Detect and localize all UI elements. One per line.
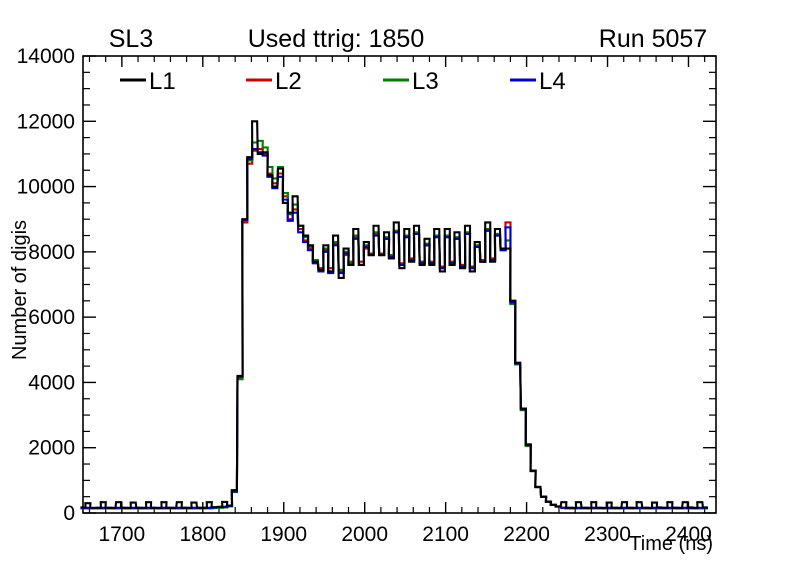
y-tick-label: 12000 bbox=[17, 110, 75, 133]
legend-entry-l1[interactable]: L1 bbox=[120, 68, 176, 95]
plot-canvas: SL3 Used ttrig: 1850 Run 5057 Number of … bbox=[0, 0, 796, 572]
x-tick-label: 2400 bbox=[665, 523, 712, 546]
x-tick-label: 1700 bbox=[98, 523, 145, 546]
header-left-label: SL3 bbox=[109, 25, 153, 53]
header-center-label: Used ttrig: 1850 bbox=[248, 25, 425, 53]
y-tick-label: 14000 bbox=[17, 45, 75, 68]
plot-frame bbox=[83, 56, 716, 513]
x-tick-label: 1900 bbox=[260, 523, 307, 546]
y-tick-label: 4000 bbox=[28, 371, 75, 394]
legend: L1L2L3L4 bbox=[120, 68, 566, 95]
legend-label: L4 bbox=[539, 68, 566, 95]
series-line-l1 bbox=[80, 121, 708, 508]
x-tick-label: 2300 bbox=[584, 523, 631, 546]
x-tick-label: 2100 bbox=[422, 523, 469, 546]
legend-label: L2 bbox=[275, 68, 302, 95]
x-tick-labels: 17001800190020002100220023002400 bbox=[98, 523, 711, 546]
series-line-l3 bbox=[80, 141, 708, 509]
x-tick-label: 1800 bbox=[179, 523, 226, 546]
root-svg: SL3 Used ttrig: 1850 Run 5057 Number of … bbox=[0, 0, 796, 572]
series-line-l4 bbox=[80, 149, 708, 508]
x-tick-label: 2000 bbox=[341, 523, 388, 546]
legend-entry-l2[interactable]: L2 bbox=[246, 68, 302, 95]
legend-entry-l4[interactable]: L4 bbox=[510, 68, 566, 95]
x-tick-label: 2200 bbox=[503, 523, 550, 546]
series-line-l2 bbox=[80, 149, 708, 508]
y-tick-label: 8000 bbox=[28, 241, 75, 264]
y-axis-ticks bbox=[83, 56, 716, 513]
y-tick-label: 2000 bbox=[28, 437, 75, 460]
legend-label: L1 bbox=[149, 68, 176, 95]
x-axis-ticks bbox=[89, 56, 704, 513]
legend-label: L3 bbox=[412, 68, 439, 95]
y-tick-label: 0 bbox=[63, 502, 75, 525]
y-tick-label: 10000 bbox=[17, 176, 75, 199]
y-tick-label: 6000 bbox=[28, 306, 75, 329]
header-right-label: Run 5057 bbox=[599, 25, 707, 53]
legend-entry-l3[interactable]: L3 bbox=[383, 68, 439, 95]
data-series-group bbox=[80, 121, 708, 508]
